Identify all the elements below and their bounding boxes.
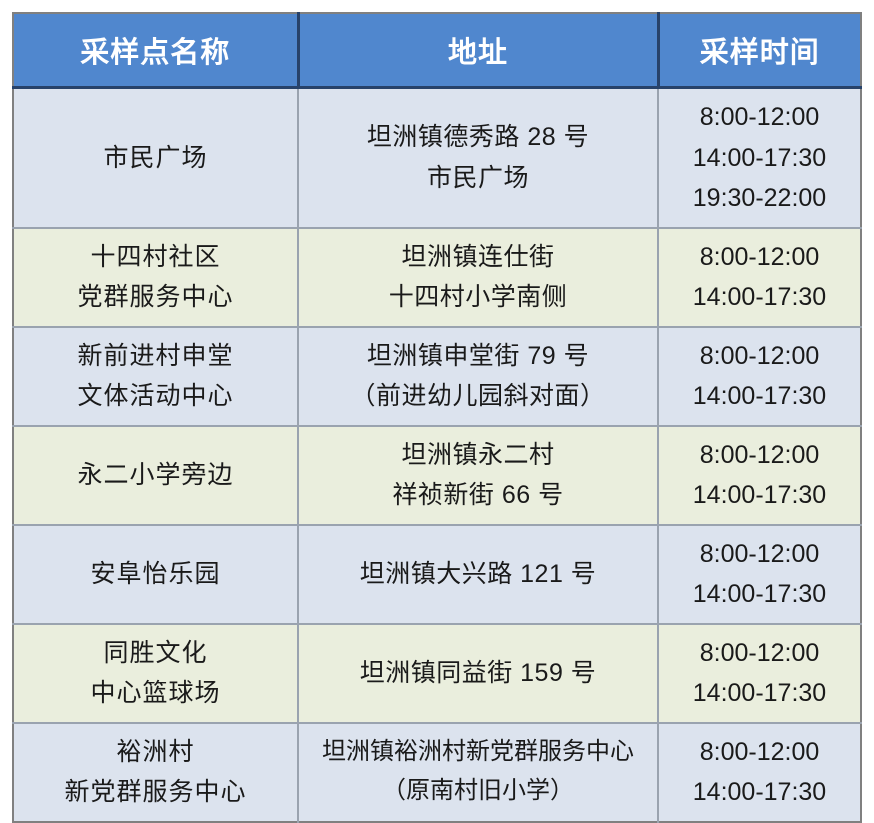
cell-sampling-time-line: 19:30-22:00 — [665, 178, 854, 219]
cell-sampling-time: 8:00-12:0014:00-17:30 — [658, 723, 861, 822]
cell-sampling-time: 8:00-12:0014:00-17:30 — [658, 228, 861, 327]
column-header-name: 采样点名称 — [13, 13, 298, 88]
cell-sampling-point-name: 同胜文化中心篮球场 — [13, 624, 298, 723]
cell-sampling-time: 8:00-12:0014:00-17:30 — [658, 624, 861, 723]
cell-sampling-time-line: 14:00-17:30 — [665, 277, 854, 318]
cell-address-line: 坦洲镇大兴路 121 号 — [305, 554, 651, 595]
cell-sampling-time-line: 8:00-12:00 — [665, 633, 854, 674]
cell-sampling-time-line: 14:00-17:30 — [665, 376, 854, 417]
cell-address-line: 坦洲镇连仕街 — [305, 237, 651, 278]
cell-sampling-time: 8:00-12:0014:00-17:30 — [658, 327, 861, 426]
cell-address-line: 坦洲镇申堂街 79 号 — [305, 336, 651, 377]
cell-sampling-point-name-line: 党群服务中心 — [20, 277, 291, 318]
cell-address-line: 坦洲镇同益街 159 号 — [305, 653, 651, 694]
cell-sampling-point-name: 安阜怡乐园 — [13, 525, 298, 624]
table-row: 安阜怡乐园坦洲镇大兴路 121 号8:00-12:0014:00-17:30 — [13, 525, 861, 624]
cell-sampling-point-name: 十四村社区党群服务中心 — [13, 228, 298, 327]
cell-address: 坦洲镇裕洲村新党群服务中心（原南村旧小学） — [298, 723, 658, 822]
cell-sampling-point-name-line: 永二小学旁边 — [20, 455, 291, 496]
table-row: 同胜文化中心篮球场坦洲镇同益街 159 号8:00-12:0014:00-17:… — [13, 624, 861, 723]
cell-sampling-time-line: 14:00-17:30 — [665, 475, 854, 516]
cell-sampling-point-name-line: 中心篮球场 — [20, 673, 291, 714]
cell-sampling-time-line: 8:00-12:00 — [665, 237, 854, 278]
cell-sampling-time-line: 14:00-17:30 — [665, 574, 854, 615]
cell-address: 坦洲镇永二村祥祯新街 66 号 — [298, 426, 658, 525]
page-root: 采样点名称 地址 采样时间 市民广场坦洲镇德秀路 28 号市民广场8:00-12… — [0, 0, 874, 780]
cell-sampling-time-line: 8:00-12:00 — [665, 435, 854, 476]
cell-address: 坦洲镇申堂街 79 号（前进幼儿园斜对面） — [298, 327, 658, 426]
table-row: 裕洲村新党群服务中心坦洲镇裕洲村新党群服务中心（原南村旧小学）8:00-12:0… — [13, 723, 861, 822]
cell-address-line: （原南村旧小学） — [305, 772, 651, 811]
column-header-time: 采样时间 — [658, 13, 861, 88]
cell-address-line: 坦洲镇永二村 — [305, 435, 651, 476]
cell-sampling-time-line: 14:00-17:30 — [665, 772, 854, 813]
cell-sampling-time: 8:00-12:0014:00-17:30 — [658, 525, 861, 624]
cell-address: 坦洲镇同益街 159 号 — [298, 624, 658, 723]
cell-sampling-point-name: 新前进村申堂文体活动中心 — [13, 327, 298, 426]
cell-address-line: 十四村小学南侧 — [305, 277, 651, 318]
table-row: 永二小学旁边坦洲镇永二村祥祯新街 66 号8:00-12:0014:00-17:… — [13, 426, 861, 525]
cell-address: 坦洲镇连仕街十四村小学南侧 — [298, 228, 658, 327]
cell-sampling-time-line: 8:00-12:00 — [665, 336, 854, 377]
cell-sampling-time-line: 8:00-12:00 — [665, 534, 854, 575]
cell-sampling-time-line: 8:00-12:00 — [665, 732, 854, 773]
cell-sampling-point-name-line: 十四村社区 — [20, 237, 291, 278]
cell-address: 坦洲镇德秀路 28 号市民广场 — [298, 88, 658, 228]
cell-address-line: 祥祯新街 66 号 — [305, 475, 651, 516]
cell-address-line: 坦洲镇裕洲村新党群服务中心 — [305, 733, 651, 772]
cell-sampling-point-name: 永二小学旁边 — [13, 426, 298, 525]
table-body: 市民广场坦洲镇德秀路 28 号市民广场8:00-12:0014:00-17:30… — [13, 88, 861, 822]
header-row: 采样点名称 地址 采样时间 — [13, 13, 861, 88]
cell-sampling-point-name-line: 新前进村申堂 — [20, 336, 291, 377]
cell-address: 坦洲镇大兴路 121 号 — [298, 525, 658, 624]
table-row: 市民广场坦洲镇德秀路 28 号市民广场8:00-12:0014:00-17:30… — [13, 88, 861, 228]
cell-sampling-point-name: 市民广场 — [13, 88, 298, 228]
table-row: 十四村社区党群服务中心坦洲镇连仕街十四村小学南侧8:00-12:0014:00-… — [13, 228, 861, 327]
cell-sampling-point-name-line: 文体活动中心 — [20, 376, 291, 417]
table-header: 采样点名称 地址 采样时间 — [13, 13, 861, 88]
cell-sampling-point-name-line: 新党群服务中心 — [20, 772, 291, 813]
cell-sampling-time-line: 14:00-17:30 — [665, 673, 854, 714]
cell-sampling-time-line: 8:00-12:00 — [665, 97, 854, 138]
cell-sampling-point-name-line: 同胜文化 — [20, 633, 291, 674]
cell-address-line: 市民广场 — [305, 158, 651, 199]
cell-sampling-point-name-line: 市民广场 — [20, 138, 291, 179]
table-row: 新前进村申堂文体活动中心坦洲镇申堂街 79 号（前进幼儿园斜对面）8:00-12… — [13, 327, 861, 426]
cell-address-line: （前进幼儿园斜对面） — [305, 376, 651, 417]
column-header-address: 地址 — [298, 13, 658, 88]
cell-sampling-time-line: 14:00-17:30 — [665, 138, 854, 179]
cell-address-line: 坦洲镇德秀路 28 号 — [305, 117, 651, 158]
cell-sampling-point-name-line: 裕洲村 — [20, 732, 291, 773]
cell-sampling-point-name: 裕洲村新党群服务中心 — [13, 723, 298, 822]
sampling-point-table: 采样点名称 地址 采样时间 市民广场坦洲镇德秀路 28 号市民广场8:00-12… — [12, 12, 862, 823]
cell-sampling-point-name-line: 安阜怡乐园 — [20, 554, 291, 595]
cell-sampling-time: 8:00-12:0014:00-17:3019:30-22:00 — [658, 88, 861, 228]
cell-sampling-time: 8:00-12:0014:00-17:30 — [658, 426, 861, 525]
